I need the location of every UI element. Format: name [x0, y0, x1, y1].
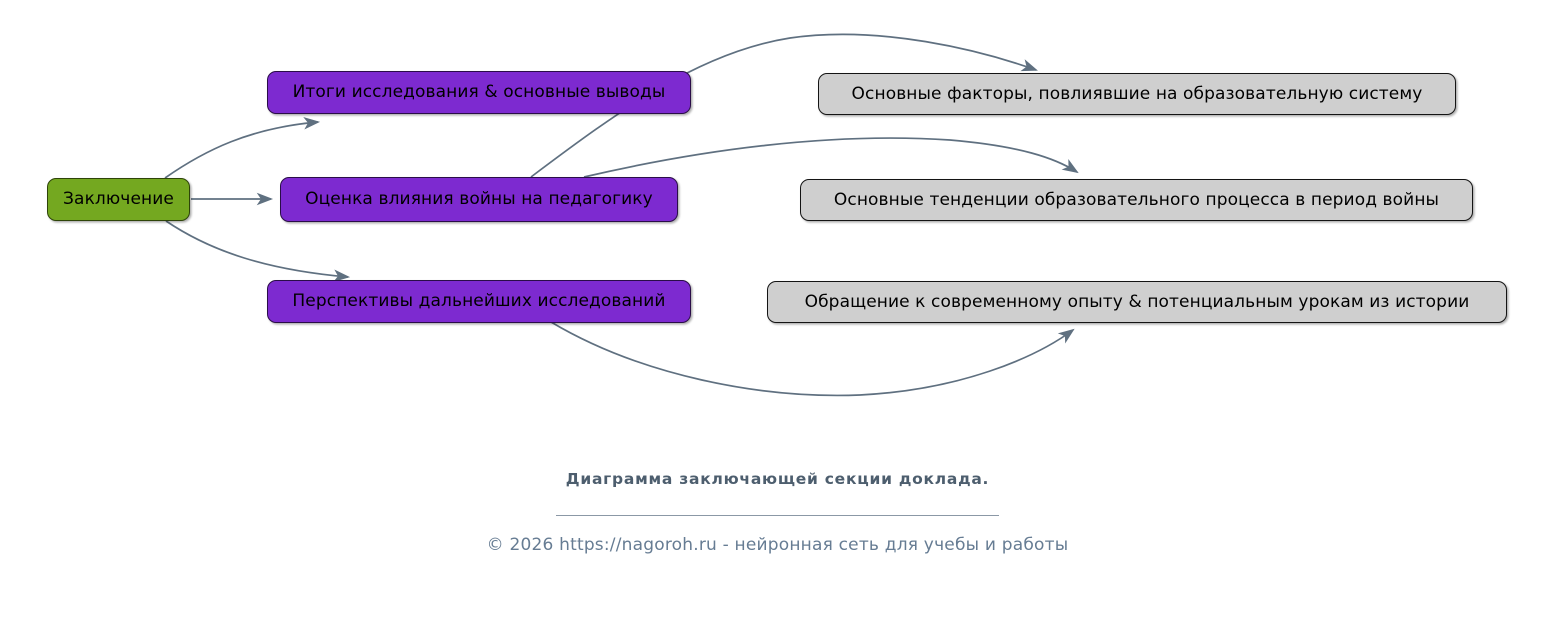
node-branch-assessment-label: Оценка влияния войны на педагогику — [305, 191, 653, 208]
node-leaf-trends-label: Основные тенденции образовательного проц… — [834, 192, 1439, 209]
node-leaf-factors-label: Основные факторы, повлиявшие на образова… — [852, 86, 1423, 103]
node-leaf-trends[interactable]: Основные тенденции образовательного проц… — [800, 179, 1473, 221]
node-leaf-factors[interactable]: Основные факторы, повлиявшие на образова… — [818, 73, 1456, 115]
node-branch-results-label: Итоги исследования & основные выводы — [293, 84, 666, 101]
edge-root-to-branch3 — [166, 221, 348, 277]
node-root-label: Заключение — [63, 191, 174, 208]
node-branch-prospects-label: Перспективы дальнейших исследований — [292, 293, 665, 310]
node-leaf-modern[interactable]: Обращение к современному опыту & потенци… — [767, 281, 1507, 323]
diagram-canvas: Заключение Итоги исследования & основные… — [0, 0, 1555, 639]
node-root[interactable]: Заключение — [47, 178, 190, 221]
node-branch-assessment[interactable]: Оценка влияния войны на педагогику — [280, 177, 678, 222]
copyright-text: © 2026 https://nagoroh.ru - нейронная се… — [0, 535, 1555, 555]
edge-branch3-to-leaf3 — [551, 322, 1073, 395]
footer: Диаграмма заключающей секции доклада. © … — [0, 470, 1555, 555]
diagram-caption: Диаграмма заключающей секции доклада. — [0, 470, 1555, 498]
node-branch-prospects[interactable]: Перспективы дальнейших исследований — [267, 280, 691, 323]
node-branch-results[interactable]: Итоги исследования & основные выводы — [267, 71, 691, 114]
footer-divider — [556, 515, 999, 516]
node-leaf-modern-label: Обращение к современному опыту & потенци… — [805, 294, 1470, 311]
edge-root-to-branch1 — [165, 122, 318, 178]
edge-branch2-to-leaf2 — [584, 138, 1077, 177]
